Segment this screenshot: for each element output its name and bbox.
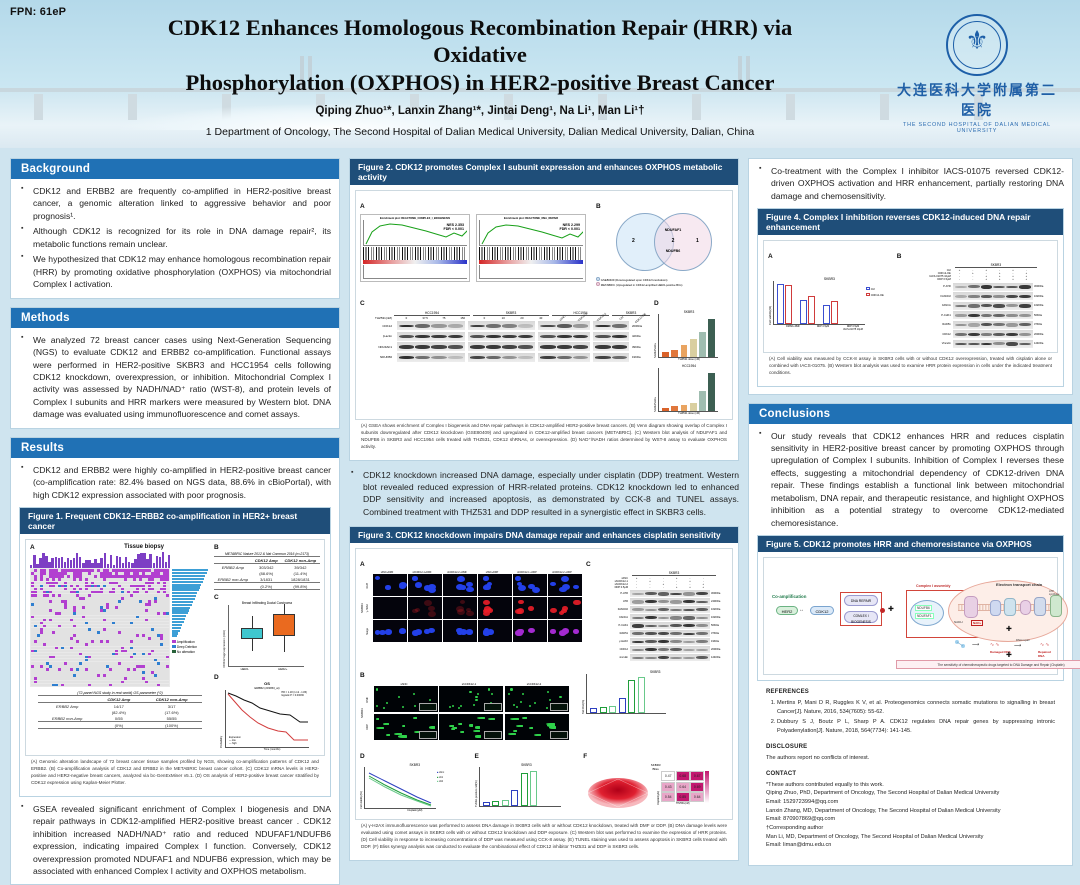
- figure-4-artwork: A SKBR3 Cell viability(%) Ctrl CDK12-OE: [763, 240, 1058, 353]
- comet-inset: [419, 703, 437, 711]
- comet-nucleoid: [546, 707, 548, 709]
- section-heading-methods: Methods: [11, 308, 339, 328]
- venn-right-count: 1: [696, 238, 699, 244]
- gsea-enrichment-curve: NES 2.353 FDR < 0.001: [363, 220, 467, 246]
- figure-1-panel-a-title: Tissue biopsy: [124, 544, 164, 551]
- panel-d-bottom-xlabel: THZ531 dose (nM): [654, 412, 724, 415]
- blot-band: [486, 324, 501, 328]
- if-image-cell: [478, 574, 512, 596]
- blot-band-group: [397, 353, 465, 362]
- blot-molecular-weight: 124KDa: [710, 656, 728, 659]
- figure-5-title: Figure 5. CDK12 promotes HRR and chemore…: [758, 536, 1063, 552]
- background-bullet-list: CDK12 and ERBB2 are frequently co-amplif…: [19, 185, 331, 291]
- comet-nucleoid: [376, 727, 385, 729]
- legend-none: No alteration: [177, 650, 195, 654]
- blot-band-group: [468, 342, 536, 351]
- nucleus: [399, 582, 407, 588]
- heatmap-cell: 0.85: [676, 792, 690, 802]
- heatmap-cell: 0.54: [661, 792, 675, 802]
- condition-mark: -: [966, 278, 979, 281]
- figure-3-panel-e-letter: E: [475, 753, 479, 760]
- complex-iv-shape: [1034, 597, 1046, 616]
- bar: [521, 773, 528, 807]
- ndufaf1-label: NDUFAF1: [915, 613, 934, 619]
- blot-protein-label: CDK12: [897, 333, 953, 336]
- figure-2: Figure 2. CDK12 promotes Complex I subun…: [349, 158, 739, 461]
- alteration-frequency-bars: [172, 569, 210, 637]
- down-arrow-icon: ✚: [1006, 626, 1012, 633]
- bar: [690, 339, 697, 357]
- panel-b-chart-ylabel: Tail DNA(%): [582, 674, 585, 714]
- blot-band: [632, 649, 644, 651]
- nucleus: [559, 587, 566, 593]
- title-line-1: CDK12 Enhances Homologous Recombination …: [120, 14, 840, 69]
- nucleus: [483, 611, 489, 616]
- blot-band: [557, 356, 572, 360]
- bar: [699, 391, 706, 411]
- comet-image-cell: [505, 686, 569, 712]
- table-col-header: CDK12 non-Amp: [281, 557, 320, 564]
- panel-a-xticks: DMSO+DMFDDP 0.5μMDDP 0.5μM IACS-01075 10…: [778, 325, 891, 331]
- blot-band: [645, 657, 657, 659]
- contact-heading: CONTACT: [766, 770, 1055, 779]
- contact-line: Email: liman@dmu.edu.cn: [766, 841, 1055, 850]
- nucleus: [460, 600, 465, 604]
- nucleus: [375, 576, 380, 580]
- blot-band-group: [397, 321, 465, 330]
- gsea-rank-gradient: [363, 260, 467, 264]
- comet-nucleoid: [394, 733, 401, 735]
- comet-nucleoid: [513, 704, 515, 706]
- comet-inset: [419, 731, 437, 739]
- comet-nucleoid: [449, 725, 454, 727]
- figure-2-western-blot: HCC1954SKBR3HCC1954SKBR3THZ531(nM)037.57…: [360, 311, 650, 362]
- nucleus: [550, 582, 555, 586]
- methods-bullet-list: We analyzed 72 breast cancer cases using…: [19, 334, 331, 421]
- comet-nucleoid: [559, 696, 561, 698]
- frequency-bar: [172, 589, 199, 591]
- blot-band: [955, 333, 967, 336]
- blot-band: [993, 314, 1005, 317]
- frequency-bar: [172, 607, 190, 609]
- blot-band: [1006, 304, 1018, 307]
- blot-band: [670, 632, 682, 635]
- blot-band: [518, 356, 533, 359]
- comet-nucleoid: [534, 702, 536, 704]
- blot-band-group: [593, 353, 629, 362]
- blot-band: [683, 592, 695, 596]
- blot-protein-label: γ-H2AX: [586, 640, 630, 643]
- figure-1: Figure 1. Frequent CDK12–ERBB2 co-amplif…: [19, 507, 331, 797]
- km-statistics: HR = 1.18 (1.12 - 1.83) logrank P = 0.00…: [281, 691, 307, 697]
- blot-band: [683, 649, 695, 651]
- figure-2-title: Figure 2. CDK12 promotes Complex I subun…: [350, 159, 738, 185]
- oncoprint-heatmap: [30, 568, 170, 687]
- blot-band: [993, 342, 1005, 345]
- comet-inset: [550, 731, 568, 739]
- list-item: Although CDK12 is recognized for its rol…: [19, 225, 331, 250]
- figure-5-artwork: Co-amplification HER2 ↔ CDK12 DNA REPAIR…: [763, 557, 1058, 675]
- mutation-bar: [168, 555, 170, 568]
- frequency-bar: [172, 618, 185, 620]
- blot-band: [470, 356, 485, 359]
- if-image-cell: [373, 620, 407, 642]
- frequency-bar: [172, 627, 181, 629]
- comet-nucleoid: [508, 693, 510, 695]
- panel-d-top-xlabel: THZ531 dose (nM): [654, 358, 724, 361]
- blot-band: [968, 323, 980, 327]
- frequency-bar: [172, 598, 195, 600]
- blot-band: [557, 335, 572, 338]
- legend-del: Deep Deletion: [177, 645, 197, 649]
- results-bullet-list: CDK12 and ERBB2 were highly co-amplified…: [19, 464, 331, 501]
- blot-band: [683, 600, 695, 603]
- blot-band: [993, 286, 1005, 289]
- blot-band: [981, 295, 993, 297]
- blot-band: [683, 609, 695, 611]
- blot-band: [645, 609, 657, 611]
- bar: [708, 373, 715, 411]
- complex-ii-shape: [990, 600, 1001, 616]
- nucleus: [428, 587, 436, 593]
- gsea-ranked-metric: [363, 265, 467, 279]
- nucleus: [428, 611, 436, 617]
- complex-i-shape: [964, 596, 978, 618]
- nucleus: [379, 630, 385, 635]
- figure-1-kaplan-meier-plot: HR = 1.18 (1.12 - 1.83) logrank P = 0.00…: [225, 690, 309, 748]
- nucleus: [466, 629, 473, 634]
- down-arrow-icon: ✚: [1006, 652, 1012, 659]
- blot-band: [981, 285, 993, 289]
- nucleus: [415, 582, 422, 588]
- blot-band: [670, 609, 682, 611]
- if-image-cell: [513, 620, 547, 642]
- repaired-dna-icon: ∿∿: [1040, 642, 1050, 648]
- comet-nucleoid: [458, 723, 462, 725]
- blot-band: [981, 314, 993, 318]
- contact-line: Lanxin Zhang, MD, Department of Oncology…: [766, 807, 1055, 816]
- blot-protein-label: FANCD2: [897, 295, 953, 298]
- figure-3-artwork: A shNC+DMFshCDK12-1+DMFshCDK12-2 +DMFshN…: [355, 548, 733, 820]
- coamplification-label: Co-amplification: [772, 594, 806, 599]
- blot-band: [431, 356, 446, 360]
- blot-molecular-weight: 37KDa: [1033, 323, 1053, 326]
- condition-mark: +: [1006, 278, 1019, 281]
- comet-nucleoid: [475, 699, 477, 701]
- gsea-fdr-1: FDR < 0.001: [444, 227, 464, 231]
- blot-lane-label: 37.5: [416, 316, 435, 320]
- comet-nucleoid: [460, 705, 462, 707]
- blot-protein-label: β-actin: [360, 334, 394, 338]
- blot-band: [645, 648, 657, 651]
- comet-nucleoid: [549, 726, 556, 728]
- list-item: CDK12 and ERBB2 were highly co-amplified…: [19, 464, 331, 501]
- blot-protein-label: ATR: [586, 600, 630, 603]
- nucleus: [559, 611, 564, 615]
- blot-band: [448, 335, 463, 339]
- list-item: Mertins P, Mani D R, Ruggles K V, et al.…: [777, 699, 1055, 716]
- frequency-bar: [172, 604, 192, 606]
- blot-band: [1006, 342, 1018, 346]
- if-image-cell: [513, 574, 547, 596]
- comet-nucleoid: [376, 705, 378, 707]
- blot-band: [955, 286, 967, 288]
- comet-nucleoid: [547, 724, 555, 726]
- blot-band: [612, 324, 627, 328]
- condition-label: DDP 0.5μM: [586, 586, 630, 589]
- comet-nucleoid: [529, 705, 531, 707]
- blot-band: [993, 333, 1005, 336]
- contact-line: Email: 870907869@qq.com: [766, 815, 1055, 824]
- cytochrome-c-shape: [1020, 600, 1031, 615]
- if-image-cell: [443, 597, 477, 619]
- nucleus: [483, 630, 490, 635]
- blot-band: [1019, 323, 1031, 326]
- blot-molecular-weight: 200KDa: [710, 648, 728, 651]
- heatmap-colorbar: [705, 771, 709, 803]
- references-block: REFERENCES Mertins P, Mani D R, Ruggles …: [757, 681, 1064, 858]
- section-results: Results CDK12 and ERBB2 were highly co-a…: [10, 437, 340, 885]
- blot-band: [645, 600, 657, 603]
- blot-band-group: [630, 630, 710, 637]
- comet-nucleoid: [452, 705, 454, 707]
- nucleus: [415, 608, 420, 612]
- blot-band-group: [538, 321, 590, 330]
- dna-repair-box: DNA REPAIR: [844, 595, 878, 606]
- comet-nucleoid: [376, 718, 379, 720]
- blot-band: [670, 640, 682, 643]
- blot-band: [658, 648, 670, 651]
- page-title: CDK12 Enhances Homologous Recombination …: [120, 14, 840, 96]
- blot-band-group: [953, 292, 1033, 300]
- blot-molecular-weight: 162KDa: [1033, 304, 1053, 307]
- nucleus: [466, 587, 473, 593]
- blot-band-group: [953, 330, 1033, 338]
- nucleus: [483, 576, 489, 580]
- section-background: Background CDK12 and ERBB2 are frequentl…: [10, 158, 340, 299]
- blot-molecular-weight: 37KDa: [710, 632, 728, 635]
- nucleus: [412, 576, 418, 580]
- comet-nucleoid: [473, 730, 481, 732]
- cdk12-node: CDK12: [810, 606, 834, 615]
- oncoprint-legend: Amplification Deep Deletion No alteratio…: [172, 640, 210, 654]
- blot-band: [502, 324, 517, 328]
- blot-band-group: [630, 598, 710, 605]
- blot-band-group: [397, 342, 465, 351]
- blot-band: [557, 324, 572, 328]
- gsea-fdr-2: FDR < 0.001: [560, 227, 580, 231]
- frequency-bar: [172, 630, 180, 632]
- blot-band: [683, 641, 695, 643]
- figure-5: Figure 5. CDK12 promotes HRR and chemore…: [757, 535, 1064, 681]
- legend-item: shnc: [439, 771, 444, 774]
- blot-protein-label: NDUFAF1: [360, 345, 394, 349]
- blot-band: [993, 323, 1005, 326]
- blot-band: [399, 335, 414, 339]
- blot-band: [955, 305, 967, 308]
- frequency-bar: [172, 635, 177, 637]
- bar: [690, 403, 697, 411]
- panel-f-xlabel: THZ531(nM): [661, 802, 704, 805]
- blot-band: [595, 325, 610, 328]
- blot-band: [670, 593, 682, 595]
- gsea-hit-marks: [363, 247, 467, 260]
- blot-band: [415, 324, 430, 328]
- bar: [511, 790, 518, 806]
- poster-header: FPN: 61eP CDK12 Enhances Homologous Reco…: [0, 0, 1080, 148]
- nucleus: [550, 608, 557, 613]
- panel-c-title: SKBR3: [632, 571, 716, 576]
- nadh-bar-chart-hcc1954: [658, 368, 718, 412]
- blot-band: [1019, 333, 1031, 336]
- her2-node: HER2: [776, 606, 798, 615]
- blot-band: [993, 295, 1005, 298]
- figure-2-caption: (A) GSEA shows enrichment of Complex I b…: [355, 420, 733, 455]
- comet-nucleoid: [475, 735, 480, 737]
- figure-2-panel-d-letter: D: [654, 300, 659, 307]
- nucleus: [573, 585, 578, 589]
- figure-4-panel-a-letter: A: [768, 253, 773, 260]
- bar: [681, 345, 688, 357]
- heatmap-cell: 0.64: [676, 782, 690, 792]
- figure-4: Figure 4. Complex I inhibition reverses …: [757, 208, 1064, 386]
- list-item: We hypothesized that CDK12 may enhance h…: [19, 253, 331, 290]
- xtick-label: DDP 0.5μM IACS-01075 10μM: [838, 325, 868, 331]
- blot-band: [658, 640, 670, 643]
- blot-band: [502, 335, 517, 339]
- blot-molecular-weight: 300KDa: [1033, 285, 1053, 288]
- legend-item: sh1: [439, 776, 443, 779]
- blot-band: [632, 641, 644, 643]
- comet-inset: [550, 703, 568, 711]
- logo-chinese-name: 大连医科大学附属第二医院: [892, 80, 1062, 120]
- if-image-cell: [548, 620, 582, 642]
- right-arrow-icon: ⟶: [1014, 643, 1021, 649]
- list-item: We analyzed 72 breast cancer cases using…: [19, 334, 331, 421]
- blot-band: [955, 324, 967, 327]
- double-arrow-icon: ↔: [799, 607, 804, 613]
- comet-nucleoid: [398, 696, 400, 698]
- blot-band: [658, 632, 670, 635]
- bar: [681, 405, 688, 411]
- comet-nucleoid: [529, 727, 533, 729]
- nucleus: [532, 587, 540, 593]
- blot-band: [399, 345, 414, 349]
- heatmap-cell: 0.69: [690, 782, 704, 792]
- bar: [492, 801, 499, 807]
- blot-band: [670, 648, 682, 651]
- blot-band: [540, 335, 555, 339]
- blot-band-group: [468, 353, 536, 362]
- figure-3-caption: (A) γ-H2AX immunofluorescence was perfor…: [355, 820, 733, 855]
- if-image-cell: [373, 574, 407, 596]
- blot-protein-label: CDK12: [360, 324, 394, 328]
- comet-image-cell: [439, 714, 503, 740]
- comet-nucleoid: [469, 724, 472, 726]
- condition-label: DDP 0.5μM: [897, 278, 953, 281]
- if-image-cell: [408, 574, 442, 596]
- nucleus: [517, 608, 524, 614]
- bar: [638, 677, 645, 713]
- blot-molecular-weight: 19KDa: [710, 640, 728, 643]
- blot-band: [968, 295, 980, 297]
- venn-legend: GSE80409 (Downregulated upon CDK12 knock…: [596, 277, 726, 288]
- blot-band: [595, 335, 610, 339]
- nucleus: [385, 585, 391, 589]
- comet-nucleoid: [491, 693, 493, 695]
- blot-band: [632, 608, 644, 611]
- frequency-bar: [172, 601, 193, 603]
- middle-bullet-list: CDK12 knockdown increased DNA damage, es…: [349, 469, 739, 519]
- blot-band: [415, 335, 430, 338]
- condition-mark: +: [697, 586, 710, 589]
- comet-nucleoid: [386, 702, 388, 704]
- blot-band: [502, 356, 517, 360]
- blot-band: [696, 649, 708, 651]
- condition-mark: +: [980, 278, 993, 281]
- heatmap-cell: 0.67: [690, 771, 704, 781]
- comet-nucleoid: [510, 718, 519, 720]
- comet-nucleoid: [386, 734, 390, 736]
- blot-band: [955, 343, 967, 346]
- comet-nucleoid: [522, 717, 527, 719]
- figure-2-artwork: A Enrichment plot: REACTOME_COMPLEX_I_BI…: [355, 190, 733, 420]
- bar: [808, 296, 815, 324]
- list-item: Dubbury S J, Boutz P L, Sharp P A. CDK12…: [777, 718, 1055, 735]
- blot-molecular-weight: 42KDa: [632, 334, 650, 338]
- blot-band: [399, 356, 414, 359]
- figure-1-panel-c-letter: C: [214, 594, 320, 601]
- column-middle: Figure 2. CDK12 promotes Complex I subun…: [349, 158, 739, 856]
- comet-nucleoid: [449, 706, 451, 708]
- list-item: Co-treatment with the Complex I inhibito…: [757, 165, 1064, 202]
- blot-band: [645, 592, 657, 595]
- panel-b-side-label: SKBR3: [360, 686, 366, 741]
- figure-3-panel-a-letter: A: [360, 561, 365, 568]
- blot-band: [658, 608, 670, 611]
- if-image-cell: [408, 597, 442, 619]
- blot-band: [658, 600, 670, 603]
- nucleus: [518, 585, 526, 591]
- blot-molecular-weight: 300KDa: [710, 592, 728, 595]
- panel-b-condition-matrix: Ctrl+-+-+-CDK12-OE-+-+-+IACS-01075 10μM-…: [897, 269, 1053, 281]
- frequency-bar: [172, 609, 189, 611]
- blot-band-group: [630, 590, 710, 597]
- oncoprint-cell: [166, 684, 169, 687]
- blot-band: [993, 304, 1005, 307]
- blot-band: [696, 624, 708, 627]
- venn-legend-item-2: METABRIC (Upregulated in CDK12-amplified…: [601, 283, 683, 287]
- blot-band: [595, 356, 610, 359]
- blot-band-group: [538, 342, 590, 351]
- cell-viability-line-chart: [364, 767, 436, 809]
- electron-transport-chain-label: Electron transport chain: [996, 582, 1042, 587]
- if-image-cell: [373, 597, 407, 619]
- bliss-surface-plot: [583, 771, 653, 815]
- panel-d-top-ylabel: NADH/NAD+: [654, 314, 657, 358]
- blot-band: [431, 345, 446, 349]
- figure-4-western-blot: P-ATR300KDaFANCD2162KDaFANCA162KDaP-CHK1…: [897, 283, 1053, 348]
- blot-band: [981, 304, 993, 307]
- blot-lane-label: 0: [475, 316, 494, 320]
- blot-band: [683, 633, 695, 635]
- if-image-cell: [408, 620, 442, 642]
- blot-molecular-weight: 19KDa: [632, 355, 650, 359]
- nucleus: [379, 611, 386, 616]
- blot-band: [1006, 323, 1018, 327]
- nucleus: [559, 630, 566, 635]
- blot-lane-label: 10: [494, 316, 513, 320]
